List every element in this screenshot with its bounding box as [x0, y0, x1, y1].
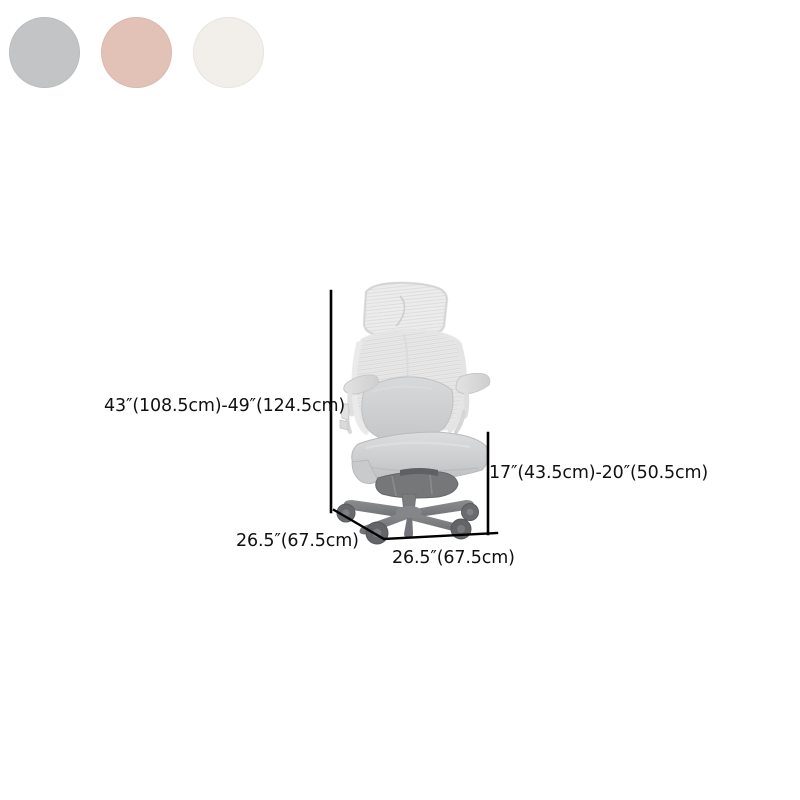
- dimension-label-overall-height: 43″(108.5cm)-49″(124.5cm): [104, 396, 345, 416]
- product-dimension-diagram-page: 43″(108.5cm)-49″(124.5cm) 17″(43.5cm)-20…: [0, 0, 800, 800]
- dimension-label-overall-depth: 26.5″(67.5cm): [236, 531, 359, 551]
- dimension-label-overall-width: 26.5″(67.5cm): [392, 548, 515, 568]
- chair-graphic: [337, 283, 490, 544]
- chair-dimension-diagram: 43″(108.5cm)-49″(124.5cm) 17″(43.5cm)-20…: [0, 0, 800, 800]
- dimension-line-width: [384, 533, 497, 539]
- dimension-label-seat-height: 17″(43.5cm)-20″(50.5cm): [489, 463, 708, 483]
